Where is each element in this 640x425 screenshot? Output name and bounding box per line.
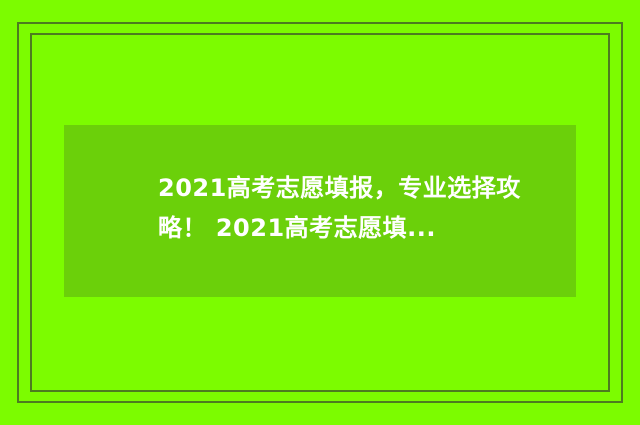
poster-canvas: 2021高考志愿填报，专业选择攻略！ 2021高考志愿填... xyxy=(0,0,640,425)
headline-panel: 2021高考志愿填报，专业选择攻略！ 2021高考志愿填... xyxy=(64,125,576,297)
poster-headline: 2021高考志愿填报，专业选择攻略！ 2021高考志愿填... xyxy=(158,168,558,248)
